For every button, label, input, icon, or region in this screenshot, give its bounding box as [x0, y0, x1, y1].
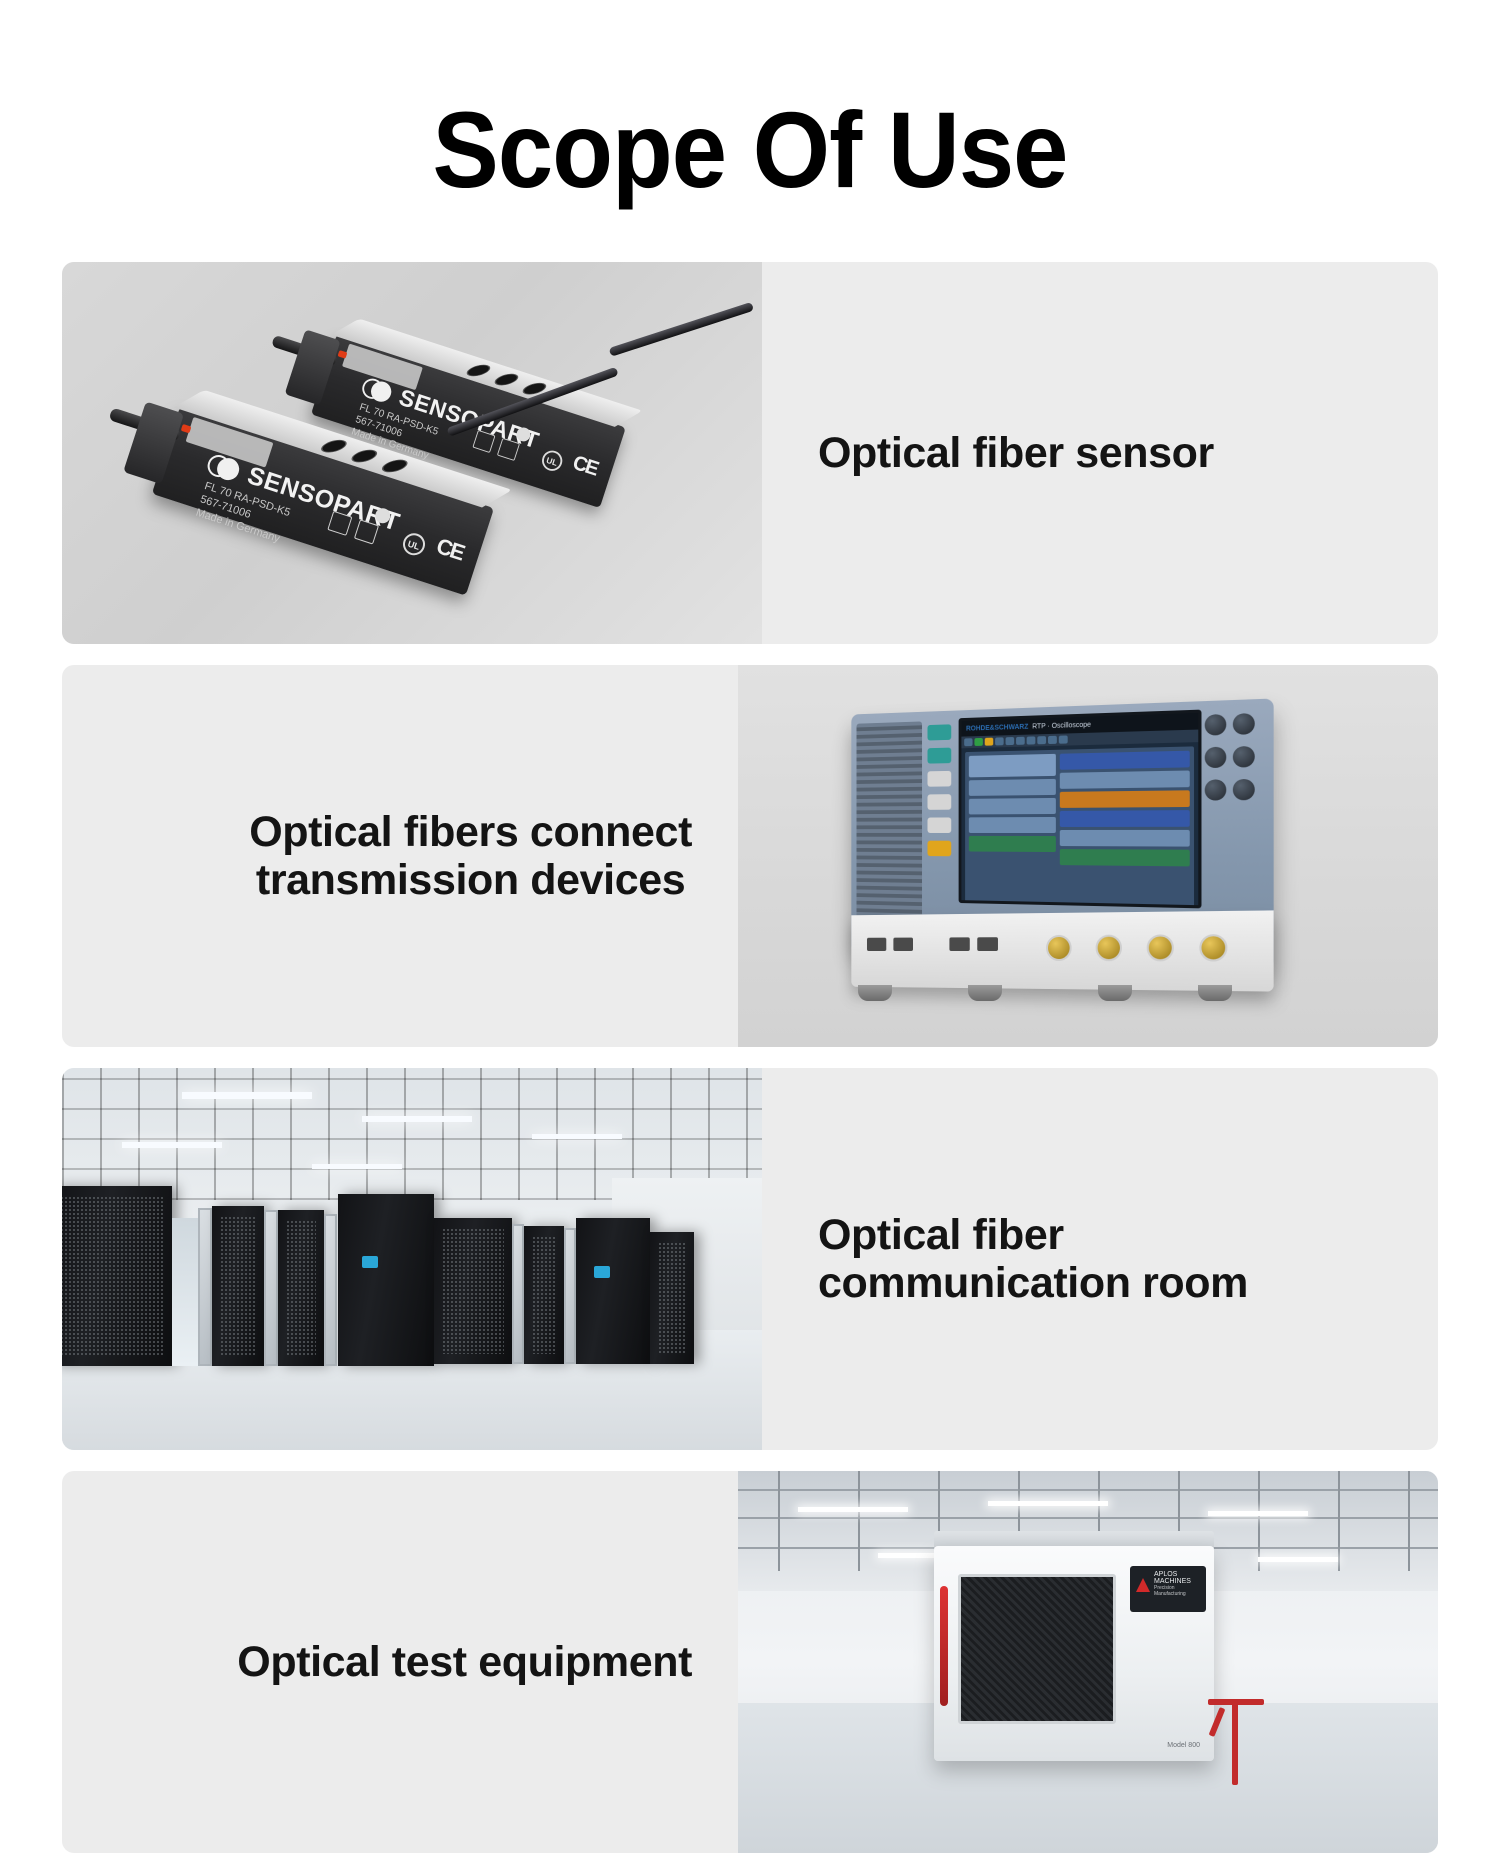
machine-indicator-stripe	[940, 1586, 948, 1706]
rack-03	[278, 1210, 324, 1366]
rack-08	[650, 1232, 694, 1364]
panel-optical-test-equipment[interactable]: APLOS MACHINES Precision Manufacturing M…	[62, 1471, 1438, 1853]
scope-of-use-page: Scope Of Use SENSOPART FL 70 RA-	[0, 0, 1500, 1875]
oscilloscope-screen: ROHDE&SCHWARZ RTP · Oscilloscope	[959, 710, 1202, 909]
oscilloscope-front-panel	[851, 910, 1273, 991]
rack-02	[212, 1206, 264, 1366]
panel-optical-fiber-communication-room[interactable]: Optical fiber communication room	[62, 1068, 1438, 1450]
caption-text-4: Optical test equipment	[237, 1638, 692, 1686]
caption-text-3-line2: communication room	[818, 1259, 1248, 1307]
caption-optical-fiber-sensor: Optical fiber sensor	[762, 262, 1438, 644]
oscilloscope-side-buttons	[927, 724, 951, 864]
fiber-lead-rear	[609, 302, 754, 357]
rack-05	[434, 1218, 512, 1364]
machine-brand-text: APLOS MACHINES	[1154, 1571, 1201, 1585]
machine-brand-triangle-icon	[1136, 1578, 1150, 1592]
ce-mark-icon: CE	[570, 450, 601, 480]
machine-support-stand	[1208, 1699, 1268, 1785]
caption-optical-fibers-connect: Optical fibers connect transmission devi…	[62, 665, 738, 1047]
oscilloscope-model-text: RTP · Oscilloscope	[1032, 721, 1091, 730]
rack-04	[338, 1194, 434, 1366]
laser-machine-enclosure: APLOS MACHINES Precision Manufacturing M…	[934, 1546, 1214, 1761]
ul-mark-icon: UL	[539, 448, 565, 474]
caption-text-3-line1: Optical fiber	[818, 1211, 1248, 1259]
machine-tagline-text: Precision Manufacturing	[1154, 1585, 1201, 1597]
panel-optical-fibers-connect[interactable]: ROHDE&SCHWARZ RTP · Oscilloscope	[62, 665, 1438, 1047]
panel-optical-fiber-sensor[interactable]: SENSOPART FL 70 RA-PSD-K5 567-71006 Made…	[62, 262, 1438, 644]
oscilloscope-knobs	[1201, 710, 1262, 809]
caption-optical-fiber-communication-room: Optical fiber communication room	[762, 1068, 1438, 1450]
caption-text-3: Optical fiber communication room	[818, 1211, 1248, 1307]
caption-text-1: Optical fiber sensor	[818, 429, 1214, 477]
oscilloscope-brand-text: ROHDE&SCHWARZ	[966, 723, 1028, 732]
machine-brand-plate: APLOS MACHINES Precision Manufacturing	[1130, 1566, 1206, 1612]
ul-mark-icon-2: UL	[400, 530, 428, 558]
caption-text-2-line1: Optical fibers connect	[249, 808, 692, 856]
rack-01	[62, 1186, 172, 1366]
fiber-optic-amplifier-photo: SENSOPART FL 70 RA-PSD-K5 567-71006 Made…	[62, 262, 762, 644]
rack-touch-panel-2[interactable]	[594, 1266, 610, 1278]
caption-text-2: Optical fibers connect transmission devi…	[249, 808, 692, 904]
rack-06	[524, 1226, 564, 1364]
caption-optical-test-equipment: Optical test equipment	[62, 1471, 738, 1853]
oscilloscope-feet	[848, 985, 1248, 1001]
oscilloscope-vent-grille	[857, 721, 923, 925]
rack-07	[576, 1218, 650, 1364]
caption-text-2-line2: transmission devices	[249, 856, 692, 904]
page-title: Scope Of Use	[60, 0, 1440, 204]
oscilloscope-photo: ROHDE&SCHWARZ RTP · Oscilloscope	[738, 665, 1438, 1047]
data-center-photo	[62, 1068, 762, 1450]
ce-mark-icon-2: CE	[433, 533, 466, 566]
rack-touch-panel-1[interactable]	[362, 1256, 378, 1268]
panel-list: SENSOPART FL 70 RA-PSD-K5 567-71006 Made…	[0, 262, 1500, 1853]
laser-cutting-machine-photo: APLOS MACHINES Precision Manufacturing M…	[738, 1471, 1438, 1853]
machine-model-text: Model 800	[1167, 1742, 1200, 1749]
machine-viewing-window	[958, 1574, 1116, 1724]
oscilloscope-waveform-area	[965, 746, 1194, 908]
